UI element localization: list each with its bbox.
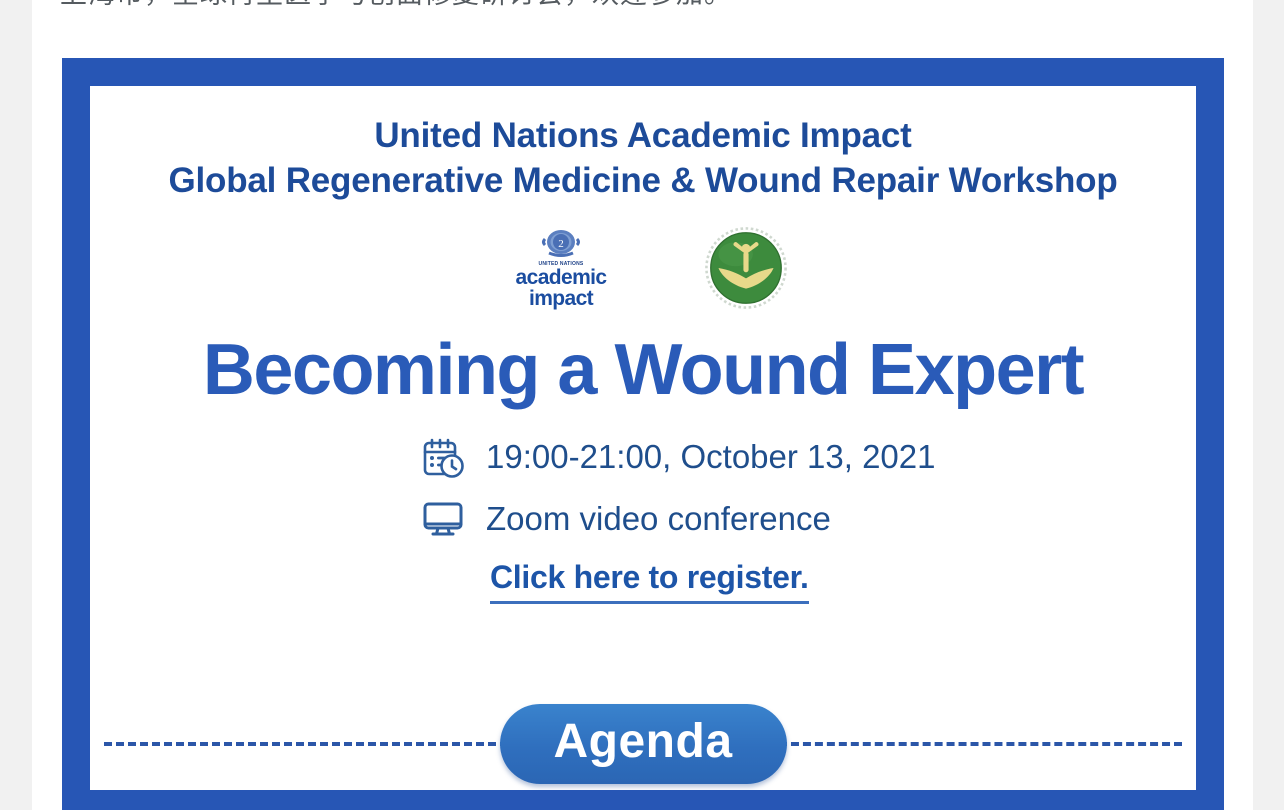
agenda-divider-row: Agenda [90, 704, 1196, 784]
monitor-icon [420, 497, 466, 541]
agenda-pill: Agenda [500, 704, 787, 784]
poster-details: 19:00-21:00, October 13, 2021 [90, 434, 1196, 542]
poster-frame: United Nations Academic Impact Global Re… [62, 58, 1224, 810]
poster-title: Becoming a Wound Expert [90, 330, 1196, 410]
green-medallion-logo [703, 225, 789, 311]
poster-content: United Nations Academic Impact Global Re… [90, 86, 1196, 790]
un-logo-word-academic: academic [516, 267, 607, 288]
svg-text:2: 2 [558, 238, 564, 250]
organization-line: United Nations Academic Impact [90, 114, 1196, 158]
poster-header: United Nations Academic Impact Global Re… [90, 86, 1196, 204]
un-emblem-icon: 2 [541, 227, 581, 259]
un-logo-word-impact: impact [529, 288, 593, 309]
detail-row-platform: Zoom video conference [420, 496, 1196, 542]
screenshot-root: 上海市，全球再生医学与创面修复研讨会，欢迎参加。 United Nations … [0, 0, 1284, 810]
agenda-label: Agenda [554, 715, 733, 768]
detail-row-datetime: 19:00-21:00, October 13, 2021 [420, 434, 1196, 480]
register-link-wrapper: Click here to register. [90, 558, 1196, 604]
logo-row: 2 UNITED NATIONS academic impact [90, 222, 1196, 314]
un-academic-impact-logo: 2 UNITED NATIONS academic impact [497, 227, 625, 309]
detail-text-platform: Zoom video conference [486, 499, 831, 539]
event-line: Global Regenerative Medicine & Wound Rep… [90, 158, 1196, 204]
dashed-line-left [104, 742, 508, 746]
calendar-clock-icon [420, 435, 466, 479]
register-link[interactable]: Click here to register. [490, 558, 809, 604]
clipped-top-text: 上海市，全球再生医学与创面修复研讨会，欢迎参加。 [60, 0, 732, 10]
detail-text-datetime: 19:00-21:00, October 13, 2021 [486, 437, 936, 477]
clipped-top-text-strip: 上海市，全球再生医学与创面修复研讨会，欢迎参加。 [32, 0, 1253, 15]
dashed-line-right [779, 742, 1183, 746]
document-page: 上海市，全球再生医学与创面修复研讨会，欢迎参加。 United Nations … [32, 0, 1253, 810]
